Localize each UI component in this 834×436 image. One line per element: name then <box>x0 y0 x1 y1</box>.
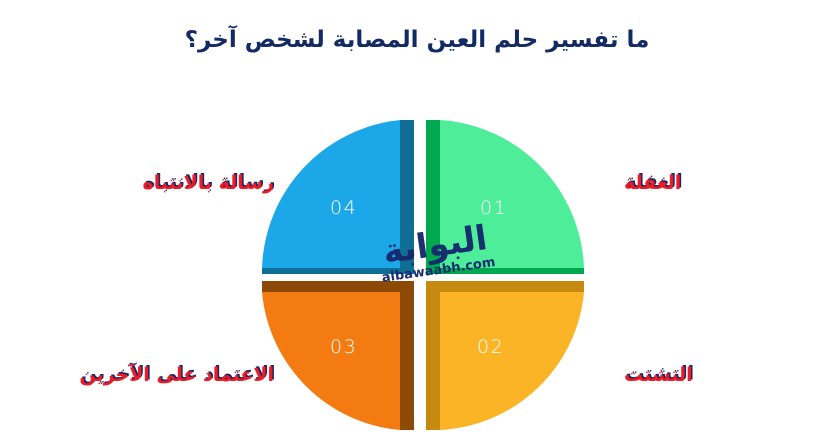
chart-canvas: ما تفسير حلم العين المصابة لشخص آخر؟ 01 … <box>0 0 834 436</box>
pie-slice-01[interactable] <box>426 120 584 274</box>
pie-slice-03[interactable] <box>262 281 414 430</box>
pie-label-02-tashattut: التشتت <box>624 366 693 385</box>
pie-slice-02-face <box>440 292 584 430</box>
pie-label-01-ghafla: الغفلة <box>624 174 681 193</box>
pie-slice-04-face <box>262 120 400 268</box>
pie-slice-03-face <box>262 292 400 430</box>
pie-slice-04[interactable] <box>262 120 414 274</box>
pie-label-03-itimad-ala-alakharin: الاعتماد على الآخرين <box>79 366 274 385</box>
pie-slice-01-face <box>440 120 584 268</box>
pie-label-04-risala-bil-intibah: رسالة بالانتباه <box>143 174 274 193</box>
pie-slice-02[interactable] <box>426 281 584 430</box>
